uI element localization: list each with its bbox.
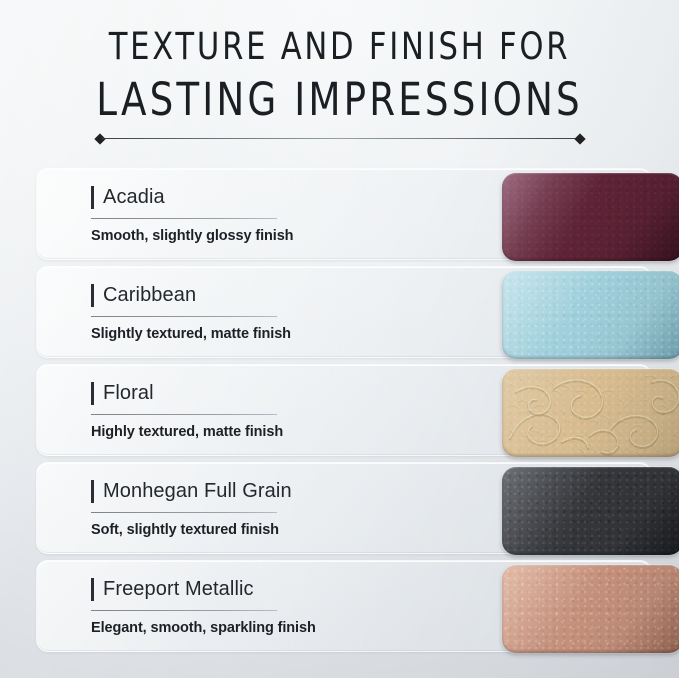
swatch-card-5[interactable]: Freeport Metallic Elegant, smooth, spark… [36, 560, 652, 652]
swatch-title-rule [91, 414, 277, 415]
page-title-line-1: TEXTURE AND FINISH FOR [27, 28, 652, 65]
swatch-row-freeport-metallic[interactable]: Freeport Metallic Elegant, smooth, spark… [0, 558, 679, 654]
swatch-sample-acadia[interactable] [502, 173, 679, 261]
swatch-sample-monhegan-full-grain[interactable] [502, 467, 679, 555]
swatch-title: Caribbean [103, 285, 196, 305]
swatch-card-4[interactable]: Monhegan Full Grain Soft, slightly textu… [36, 462, 652, 554]
accent-bar-icon [91, 186, 94, 209]
swatch-edge [502, 369, 679, 457]
accent-bar-icon [91, 284, 94, 307]
accent-bar-icon [91, 480, 94, 503]
swatch-title: Monhegan Full Grain [103, 481, 292, 501]
swatch-title-wrap: Floral [91, 379, 471, 407]
swatch-title-wrap: Monhegan Full Grain [91, 477, 471, 505]
swatch-edge [502, 173, 679, 261]
swatch-title-rule [91, 218, 277, 219]
swatch-title-rule [91, 610, 277, 611]
swatch-description: Highly textured, matte finish [91, 424, 471, 440]
swatch-card-2[interactable]: Caribbean Slightly textured, matte finis… [36, 266, 652, 358]
divider-rule [102, 138, 578, 139]
accent-bar-icon [91, 382, 94, 405]
swatch-sample-freeport-metallic[interactable] [502, 565, 679, 653]
swatch-text-block: Freeport Metallic Elegant, smooth, spark… [91, 575, 471, 636]
infographic-page: TEXTURE AND FINISH FOR LASTING IMPRESSIO… [0, 0, 679, 678]
swatch-title: Floral [103, 383, 154, 403]
swatch-edge [502, 271, 679, 359]
swatch-description: Soft, slightly textured finish [91, 522, 471, 538]
swatch-title: Freeport Metallic [103, 579, 254, 599]
swatch-edge [502, 565, 679, 653]
decorative-divider [96, 133, 584, 144]
swatch-card-3[interactable]: Floral Highly textured, matte finish [36, 364, 652, 456]
swatch-edge [502, 467, 679, 555]
swatch-title-wrap: Caribbean [91, 281, 471, 309]
swatch-sample-caribbean[interactable] [502, 271, 679, 359]
swatch-text-block: Monhegan Full Grain Soft, slightly textu… [91, 477, 471, 538]
swatch-title-wrap: Freeport Metallic [91, 575, 471, 603]
swatch-text-block: Floral Highly textured, matte finish [91, 379, 471, 440]
swatch-title-wrap: Acadia [91, 183, 471, 211]
swatch-title-rule [91, 316, 277, 317]
swatch-description: Smooth, slightly glossy finish [91, 228, 471, 244]
swatch-card-1[interactable]: Acadia Smooth, slightly glossy finish [36, 168, 652, 260]
diamond-icon-right [574, 133, 585, 144]
swatch-sample-floral[interactable] [502, 369, 679, 457]
swatch-row-acadia[interactable]: Acadia Smooth, slightly glossy finish [0, 166, 679, 262]
page-title-line-2: LASTING IMPRESSIONS [27, 77, 652, 122]
swatch-row-caribbean[interactable]: Caribbean Slightly textured, matte finis… [0, 264, 679, 360]
swatch-list: Acadia Smooth, slightly glossy finish Ca… [0, 166, 679, 656]
swatch-title: Acadia [103, 187, 165, 207]
swatch-title-rule [91, 512, 277, 513]
swatch-text-block: Acadia Smooth, slightly glossy finish [91, 183, 471, 244]
accent-bar-icon [91, 578, 94, 601]
swatch-row-monhegan-full-grain[interactable]: Monhegan Full Grain Soft, slightly textu… [0, 460, 679, 556]
page-header: TEXTURE AND FINISH FOR LASTING IMPRESSIO… [0, 0, 679, 122]
swatch-text-block: Caribbean Slightly textured, matte finis… [91, 281, 471, 342]
swatch-row-floral[interactable]: Floral Highly textured, matte finish [0, 362, 679, 458]
swatch-description: Slightly textured, matte finish [91, 326, 471, 342]
swatch-description: Elegant, smooth, sparkling finish [91, 620, 471, 636]
